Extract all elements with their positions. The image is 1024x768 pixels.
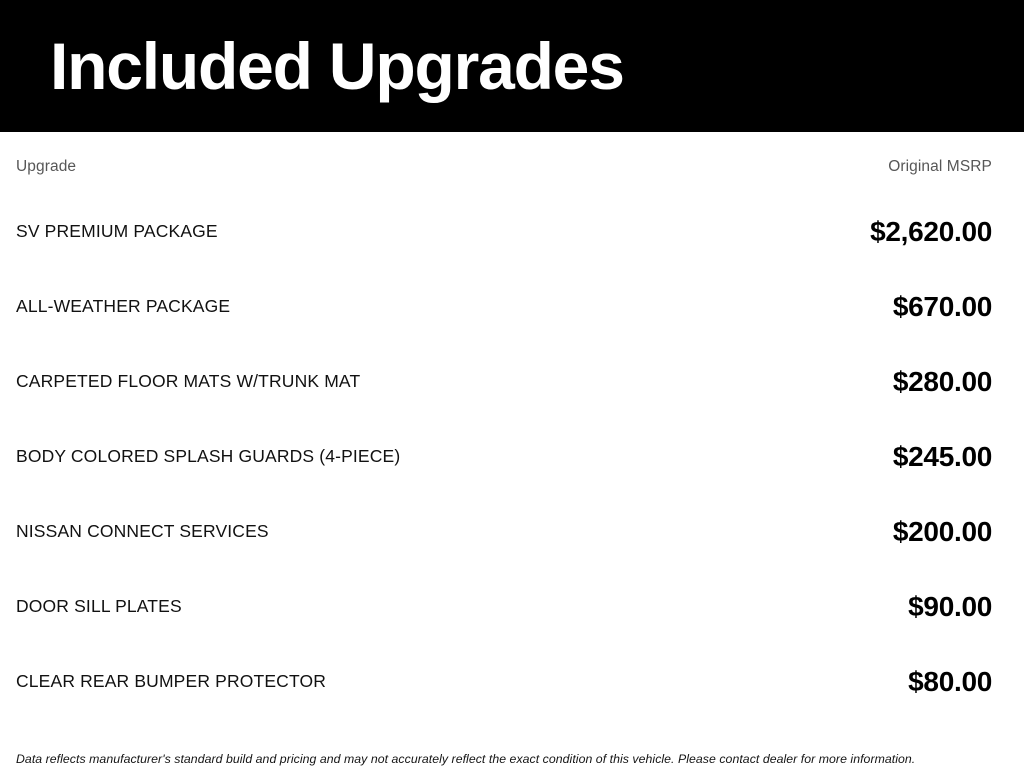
table-column-headers: Upgrade Original MSRP — [16, 132, 992, 176]
table-row: DOOR SILL PLATES $90.00 — [16, 569, 992, 644]
upgrade-name: NISSAN CONNECT SERVICES — [16, 521, 269, 542]
column-header-upgrade: Upgrade — [16, 158, 76, 176]
upgrade-name: BODY COLORED SPLASH GUARDS (4-PIECE) — [16, 446, 400, 467]
upgrade-msrp: $90.00 — [908, 591, 992, 623]
included-upgrades-page: Included Upgrades Upgrade Original MSRP … — [0, 0, 1024, 768]
upgrade-name: ALL-WEATHER PACKAGE — [16, 296, 230, 317]
upgrade-msrp: $80.00 — [908, 666, 992, 698]
table-row: CARPETED FLOOR MATS W/TRUNK MAT $280.00 — [16, 344, 992, 419]
upgrade-msrp: $200.00 — [893, 516, 992, 548]
table-row: ALL-WEATHER PACKAGE $670.00 — [16, 269, 992, 344]
table-row: BODY COLORED SPLASH GUARDS (4-PIECE) $24… — [16, 419, 992, 494]
upgrade-msrp: $245.00 — [893, 441, 992, 473]
page-header-banner: Included Upgrades — [0, 0, 1024, 132]
upgrade-name: CLEAR REAR BUMPER PROTECTOR — [16, 671, 326, 692]
upgrade-msrp: $280.00 — [893, 366, 992, 398]
upgrades-table: Upgrade Original MSRP SV PREMIUM PACKAGE… — [0, 132, 1024, 746]
table-body: SV PREMIUM PACKAGE $2,620.00 ALL-WEATHER… — [16, 194, 992, 719]
disclaimer-text: Data reflects manufacturer's standard bu… — [0, 746, 1024, 768]
table-row: CLEAR REAR BUMPER PROTECTOR $80.00 — [16, 644, 992, 719]
table-row: NISSAN CONNECT SERVICES $200.00 — [16, 494, 992, 569]
table-row: SV PREMIUM PACKAGE $2,620.00 — [16, 194, 992, 269]
upgrade-name: SV PREMIUM PACKAGE — [16, 221, 218, 242]
upgrade-name: DOOR SILL PLATES — [16, 596, 182, 617]
upgrade-msrp: $670.00 — [893, 291, 992, 323]
page-title: Included Upgrades — [50, 33, 624, 99]
upgrade-msrp: $2,620.00 — [870, 216, 992, 248]
column-header-original-msrp: Original MSRP — [888, 158, 992, 176]
upgrade-name: CARPETED FLOOR MATS W/TRUNK MAT — [16, 371, 360, 392]
